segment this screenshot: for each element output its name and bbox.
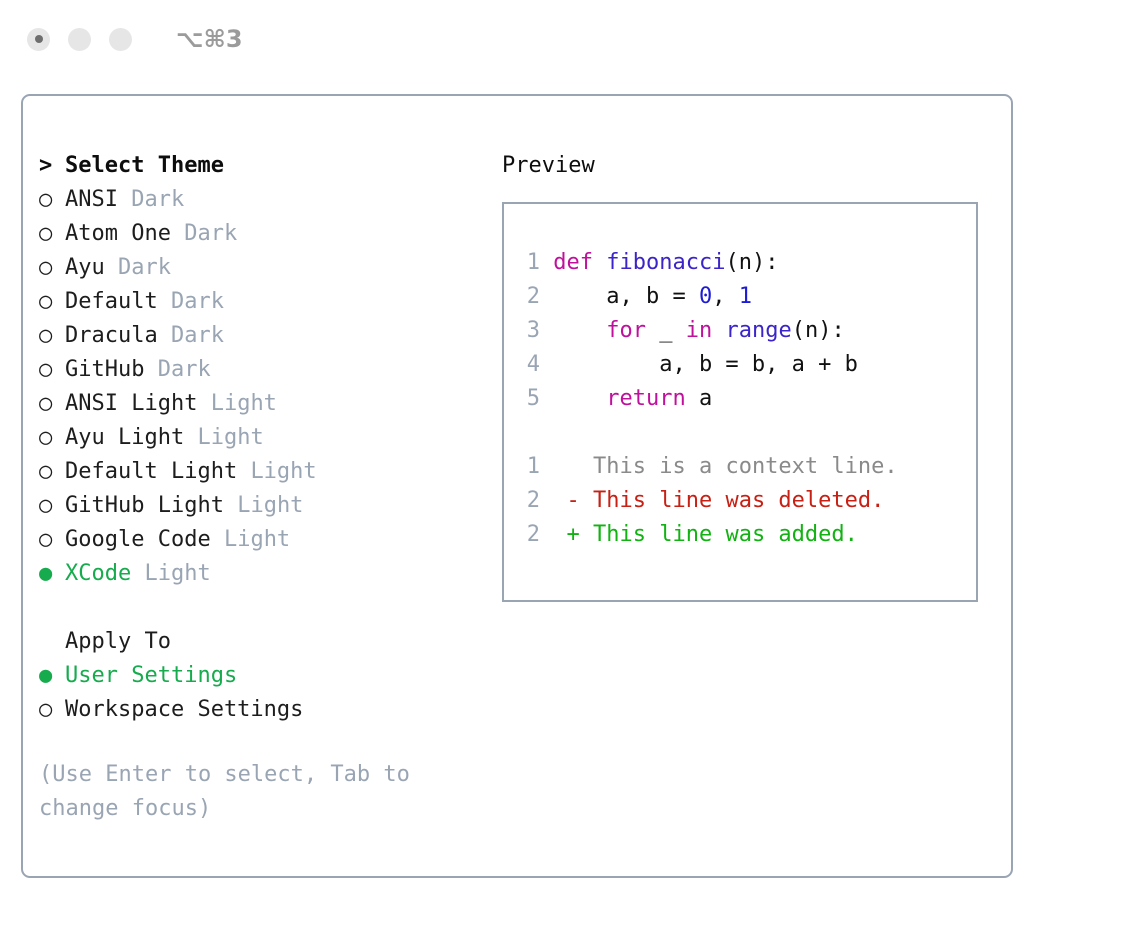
radio-unselected-icon: ○ xyxy=(39,391,65,416)
code-line-number: 4 xyxy=(518,348,540,382)
apply-to-options: ●User Settings○Workspace Settings xyxy=(39,658,479,726)
window-controls xyxy=(27,28,132,51)
radio-unselected-icon: ○ xyxy=(39,255,65,280)
theme-variant: Light xyxy=(237,493,303,518)
diff-line: 1 This is a context line. xyxy=(518,450,976,484)
radio-unselected-icon: ○ xyxy=(39,425,65,450)
theme-name-gap xyxy=(144,357,157,382)
diff-text: This is a context line. xyxy=(593,454,898,479)
theme-name-gap xyxy=(131,561,144,586)
keyboard-hint: (Use Enter to select, Tab to change focu… xyxy=(39,758,449,826)
theme-variant: Dark xyxy=(171,323,224,348)
theme-option-github-light[interactable]: ○GitHub Light Light xyxy=(39,488,479,522)
radio-unselected-icon: ○ xyxy=(39,221,65,246)
diff-sign: + xyxy=(567,522,594,547)
theme-variant: Light xyxy=(197,425,263,450)
code-token-num: 1 xyxy=(739,284,752,309)
theme-name-gap xyxy=(158,289,171,314)
code-token-kw: in xyxy=(686,318,713,343)
theme-variant: Light xyxy=(224,527,290,552)
theme-variant: Light xyxy=(144,561,210,586)
diff-text: This line was deleted. xyxy=(593,488,884,513)
diff-sample: 1 This is a context line.2 - This line w… xyxy=(518,450,976,552)
select-theme-heading: >Select Theme xyxy=(39,148,479,182)
diff-line-number: 2 xyxy=(518,518,540,552)
theme-name-gap xyxy=(118,187,131,212)
theme-list-column: >Select Theme ○ANSI Dark○Atom One Dark○A… xyxy=(39,148,479,726)
theme-list: ○ANSI Dark○Atom One Dark○Ayu Dark○Defaul… xyxy=(39,182,479,590)
code-line-number: 2 xyxy=(518,280,540,314)
code-token-plain: a, b = xyxy=(553,284,699,309)
diff-text: This line was added. xyxy=(593,522,858,547)
gutter-gap xyxy=(540,352,553,377)
theme-name: ANSI Light xyxy=(65,391,197,416)
theme-option-ansi[interactable]: ○ANSI Dark xyxy=(39,182,479,216)
code-line-number: 1 xyxy=(518,246,540,280)
apply-to-option-workspace-settings[interactable]: ○Workspace Settings xyxy=(39,692,479,726)
radio-unselected-icon: ○ xyxy=(39,289,65,314)
theme-option-default[interactable]: ○Default Dark xyxy=(39,284,479,318)
code-token-plain: , xyxy=(712,284,739,309)
theme-option-ansi-light[interactable]: ○ANSI Light Light xyxy=(39,386,479,420)
theme-name: Default Light xyxy=(65,459,237,484)
theme-variant: Light xyxy=(211,391,277,416)
radio-unselected-icon: ○ xyxy=(39,527,65,552)
preview-spacer xyxy=(518,416,976,450)
theme-name: ANSI xyxy=(65,187,118,212)
code-token-num: 0 xyxy=(699,284,712,309)
theme-name: Default xyxy=(65,289,158,314)
theme-name: Google Code xyxy=(65,527,211,552)
radio-unselected-icon: ○ xyxy=(39,493,65,518)
window-titlebar: ⌥⌘3 xyxy=(0,0,1140,78)
theme-option-atom-one[interactable]: ○Atom One Dark xyxy=(39,216,479,250)
theme-name: Atom One xyxy=(65,221,171,246)
code-token-fn: fibonacci xyxy=(606,250,725,275)
code-line: 1 def fibonacci(n): xyxy=(518,246,976,280)
theme-option-ayu-light[interactable]: ○Ayu Light Light xyxy=(39,420,479,454)
theme-picker-panel: >Select Theme ○ANSI Dark○Atom One Dark○A… xyxy=(21,94,1013,878)
window-dot-icon-3[interactable] xyxy=(109,28,132,51)
theme-name-gap xyxy=(158,323,171,348)
code-token-kw: def xyxy=(553,250,606,275)
preview-title: Preview xyxy=(502,148,1002,182)
radio-selected-icon: ● xyxy=(39,561,65,586)
theme-name-gap xyxy=(197,391,210,416)
apply-to-label: Apply To xyxy=(65,629,171,654)
preview-column: Preview 1 def fibonacci(n):2 a, b = 0, 1… xyxy=(502,148,1002,602)
theme-variant: Dark xyxy=(171,289,224,314)
diff-sign xyxy=(567,454,594,479)
apply-to-option-label: User Settings xyxy=(65,663,237,688)
apply-to-option-user-settings[interactable]: ●User Settings xyxy=(39,658,479,692)
theme-name-gap xyxy=(224,493,237,518)
radio-unselected-icon: ○ xyxy=(39,323,65,348)
select-theme-heading-label: Select Theme xyxy=(65,153,224,178)
theme-option-github[interactable]: ○GitHub Dark xyxy=(39,352,479,386)
theme-variant: Dark xyxy=(184,221,237,246)
theme-name-gap xyxy=(211,527,224,552)
code-line: 2 a, b = 0, 1 xyxy=(518,280,976,314)
code-token-kw: for xyxy=(606,318,646,343)
apply-to-option-label: Workspace Settings xyxy=(65,697,303,722)
diff-line-number: 2 xyxy=(518,484,540,518)
theme-variant: Dark xyxy=(131,187,184,212)
diff-gutter-gap xyxy=(540,454,567,479)
theme-name: XCode xyxy=(65,561,131,586)
theme-option-dracula[interactable]: ○Dracula Dark xyxy=(39,318,479,352)
radio-selected-icon: ● xyxy=(39,663,65,688)
diff-line-number: 1 xyxy=(518,450,540,484)
diff-line: 2 - This line was deleted. xyxy=(518,484,976,518)
window-dot-icon-2[interactable] xyxy=(68,28,91,51)
code-line-number: 3 xyxy=(518,314,540,348)
theme-name: GitHub xyxy=(65,357,144,382)
code-token-plain: (n): xyxy=(725,250,778,275)
theme-name-gap xyxy=(171,221,184,246)
code-line-number: 5 xyxy=(518,382,540,416)
code-token-plain xyxy=(553,318,606,343)
theme-name: GitHub Light xyxy=(65,493,224,518)
theme-option-google-code[interactable]: ○Google Code Light xyxy=(39,522,479,556)
code-token-plain: _ xyxy=(646,318,686,343)
theme-option-ayu[interactable]: ○Ayu Dark xyxy=(39,250,479,284)
preview-box: 1 def fibonacci(n):2 a, b = 0, 13 for _ … xyxy=(502,202,978,602)
code-line: 3 for _ in range(n): xyxy=(518,314,976,348)
code-sample: 1 def fibonacci(n):2 a, b = 0, 13 for _ … xyxy=(518,246,976,416)
gutter-gap xyxy=(540,284,553,309)
gutter-gap xyxy=(540,250,553,275)
code-token-plain: a, b = b, a + b xyxy=(553,352,858,377)
code-token-plain: a xyxy=(686,386,713,411)
theme-name-gap xyxy=(237,459,250,484)
theme-name: Ayu xyxy=(65,255,105,280)
code-token-fn: range xyxy=(725,318,791,343)
diff-sign: - xyxy=(567,488,594,513)
theme-variant: Dark xyxy=(158,357,211,382)
keyboard-shortcut-label: ⌥⌘3 xyxy=(176,25,243,53)
diff-gutter-gap xyxy=(540,488,567,513)
code-line: 4 a, b = b, a + b xyxy=(518,348,976,382)
theme-name-gap xyxy=(105,255,118,280)
radio-unselected-icon: ○ xyxy=(39,459,65,484)
theme-option-xcode[interactable]: ●XCode Light xyxy=(39,556,479,590)
prompt-caret-icon: > xyxy=(39,153,65,178)
diff-gutter-gap xyxy=(540,522,567,547)
radio-unselected-icon: ○ xyxy=(39,187,65,212)
code-line: 5 return a xyxy=(518,382,976,416)
radio-unselected-icon: ○ xyxy=(39,697,65,722)
code-token-kw xyxy=(553,386,606,411)
gutter-gap xyxy=(540,318,553,343)
radio-unselected-icon: ○ xyxy=(39,357,65,382)
theme-name: Dracula xyxy=(65,323,158,348)
diff-line: 2 + This line was added. xyxy=(518,518,976,552)
theme-name: Ayu Light xyxy=(65,425,184,450)
code-token-plain xyxy=(712,318,725,343)
theme-variant: Light xyxy=(250,459,316,484)
theme-option-default-light[interactable]: ○Default Light Light xyxy=(39,454,479,488)
theme-variant: Dark xyxy=(118,255,171,280)
theme-name-gap xyxy=(184,425,197,450)
gutter-gap xyxy=(540,386,553,411)
code-token-plain: (n): xyxy=(792,318,845,343)
apply-to-heading: Apply To xyxy=(39,624,479,658)
window-dot-active-icon[interactable] xyxy=(27,28,50,51)
code-token-kw: return xyxy=(606,386,685,411)
